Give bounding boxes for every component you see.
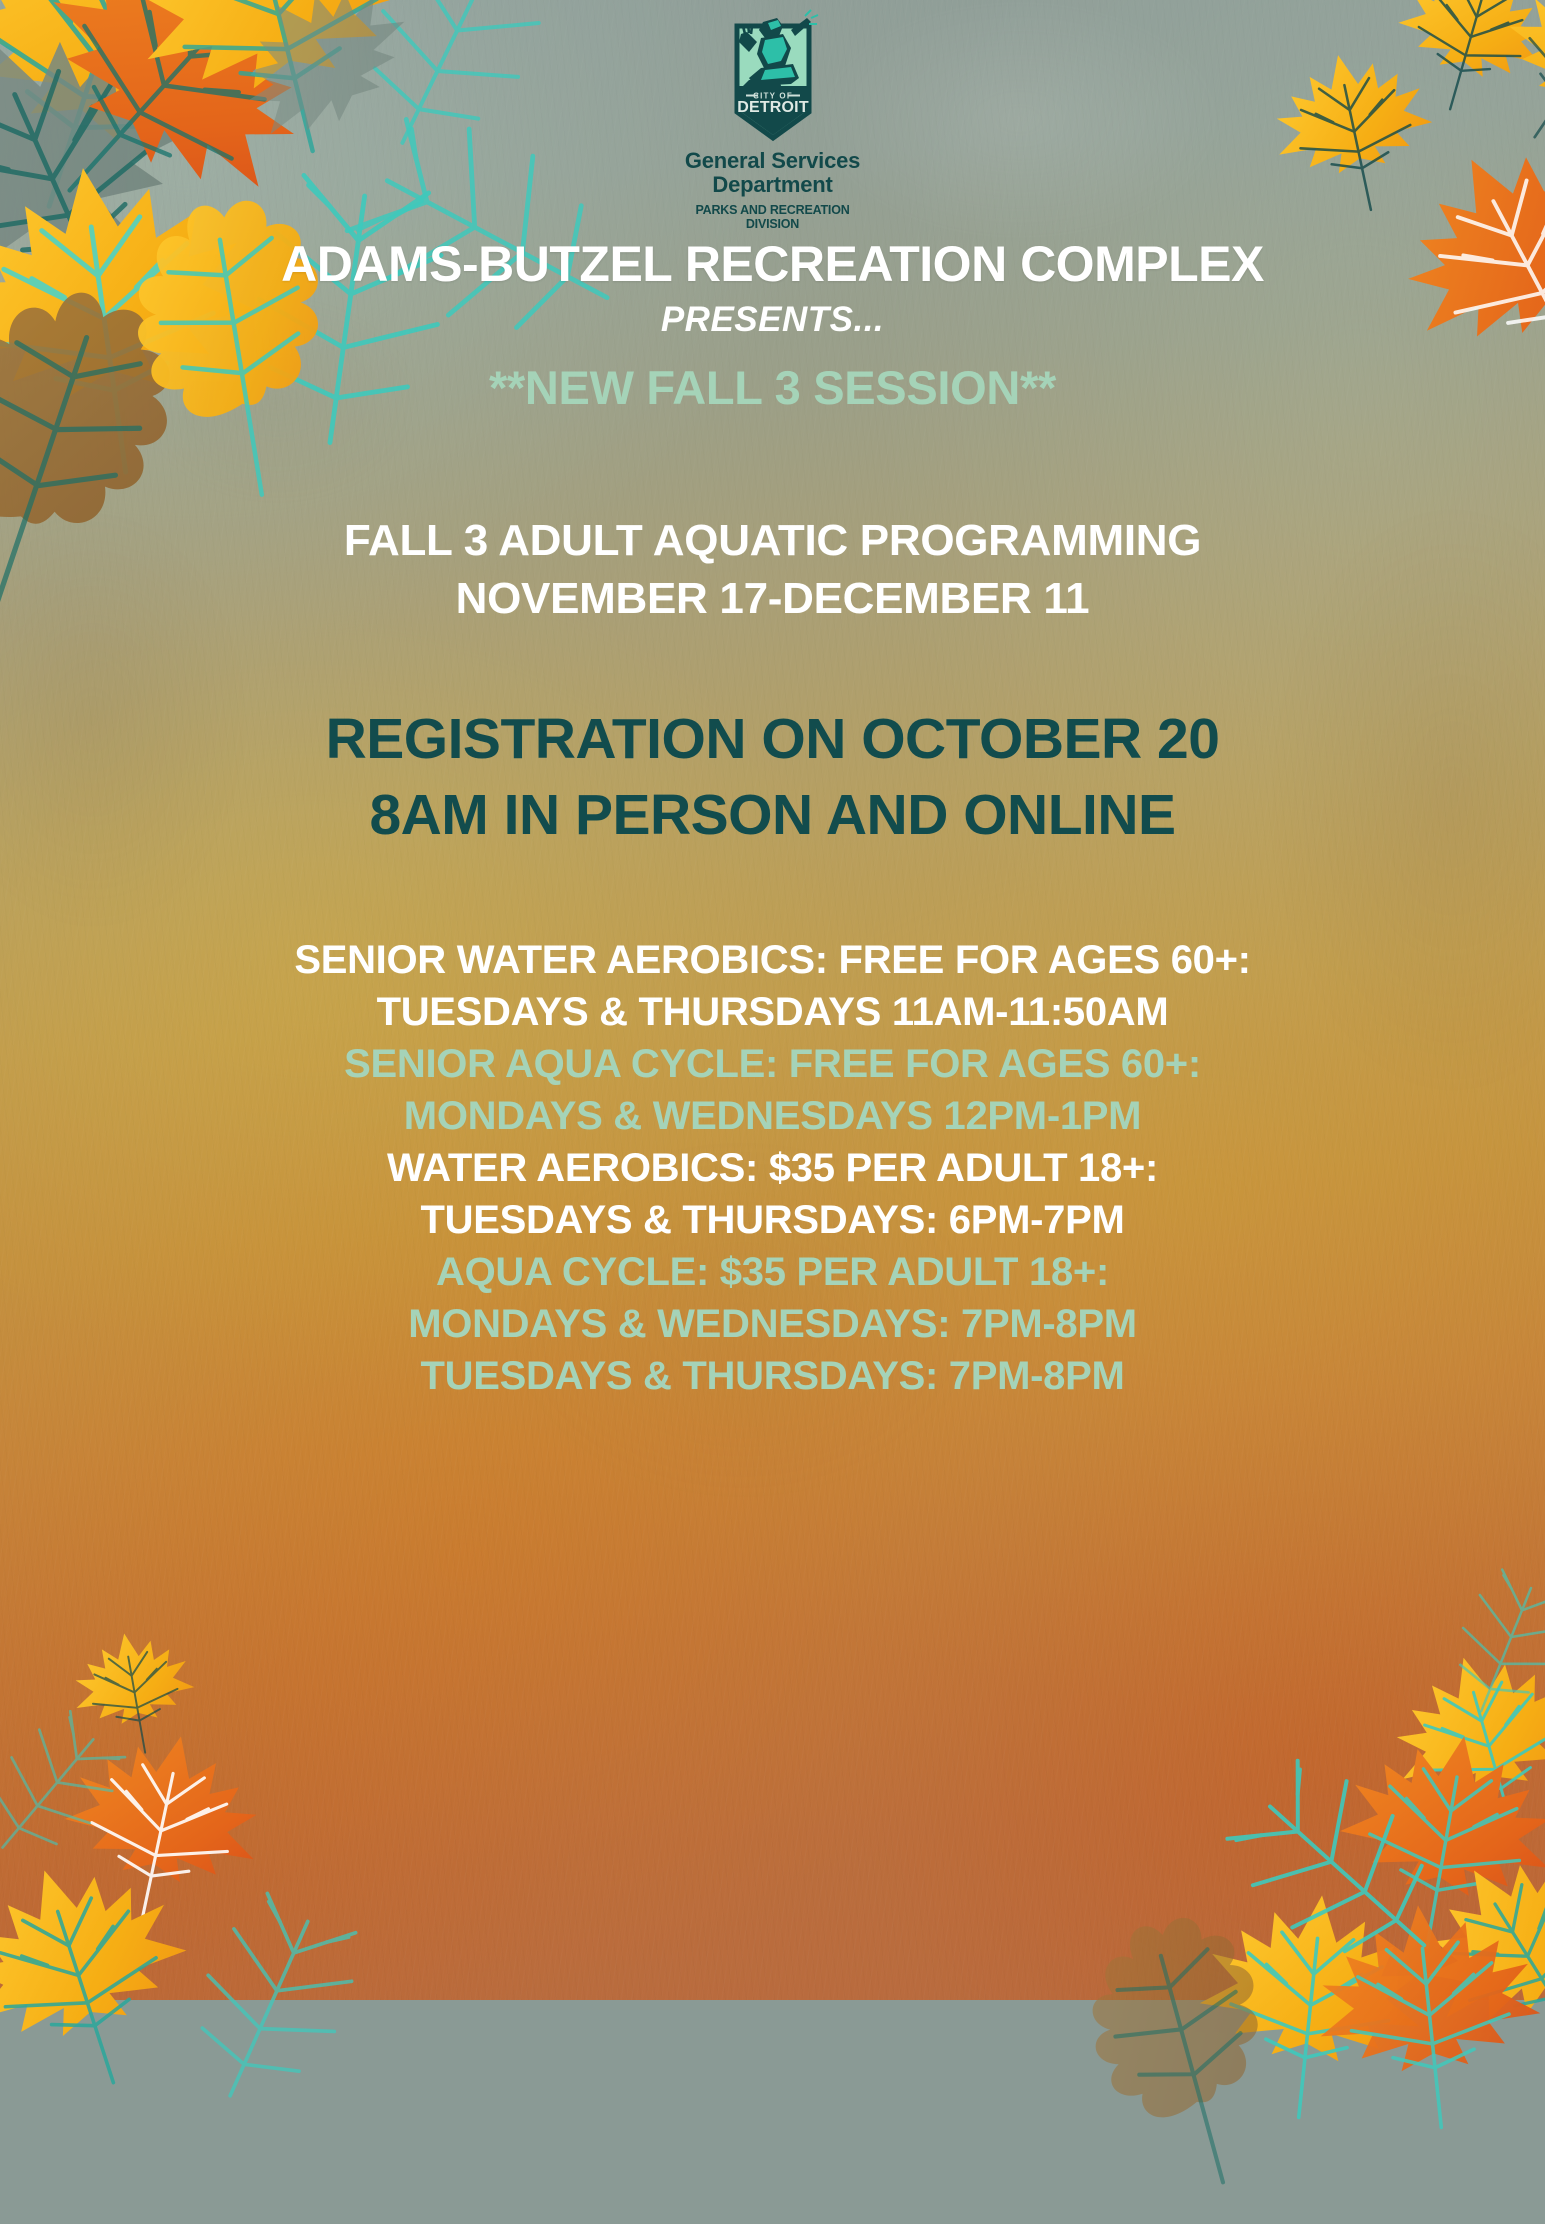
city-of-detroit-logo: CITY OF DETROIT General Services Departm… <box>0 8 1545 231</box>
program-line-2: NOVEMBER 17-DECEMBER 11 <box>0 570 1545 628</box>
class-schedule: MONDAYS & WEDNESDAYS: 7PM-8PM <box>0 1298 1545 1350</box>
class-title: AQUA CYCLE: $35 PER ADULT 18+: <box>0 1246 1545 1298</box>
detroit-shield-icon: CITY OF DETROIT <box>721 8 825 148</box>
class-title: WATER AEROBICS: $35 PER ADULT 18+: <box>0 1142 1545 1194</box>
program-line-1: FALL 3 ADULT AQUATIC PROGRAMMING <box>0 512 1545 570</box>
class-schedule: TUESDAYS & THURSDAYS: 6PM-7PM <box>0 1194 1545 1246</box>
registration-line-2: 8AM IN PERSON AND ONLINE <box>0 778 1545 854</box>
class-schedule: TUESDAYS & THURSDAYS: 7PM-8PM <box>0 1350 1545 1402</box>
logo-dept-line-1: General Services <box>685 150 860 172</box>
class-schedule: TUESDAYS & THURSDAYS 11AM-11:50AM <box>0 986 1545 1038</box>
class-listings: SENIOR WATER AEROBICS: FREE FOR AGES 60+… <box>0 934 1545 1402</box>
class-listing: AQUA CYCLE: $35 PER ADULT 18+:MONDAYS & … <box>0 1246 1545 1402</box>
logo-division-line-2: DIVISION <box>746 218 799 231</box>
logo-division-line-1: PARKS AND RECREATION <box>695 204 849 217</box>
class-listing: SENIOR WATER AEROBICS: FREE FOR AGES 60+… <box>0 934 1545 1038</box>
page-title: ADAMS-BUTZEL RECREATION COMPLEX <box>0 238 1545 291</box>
class-title: SENIOR AQUA CYCLE: FREE FOR AGES 60+: <box>0 1038 1545 1090</box>
logo-dept-line-2: Department <box>712 174 832 197</box>
registration-callout: REGISTRATION ON OCTOBER 20 8AM IN PERSON… <box>0 702 1545 854</box>
class-title: SENIOR WATER AEROBICS: FREE FOR AGES 60+… <box>0 934 1545 986</box>
program-heading: FALL 3 ADULT AQUATIC PROGRAMMING NOVEMBE… <box>0 512 1545 628</box>
session-banner: **NEW FALL 3 SESSION** <box>0 360 1545 415</box>
class-schedule: MONDAYS & WEDNESDAYS 12PM-1PM <box>0 1090 1545 1142</box>
svg-text:DETROIT: DETROIT <box>737 99 809 116</box>
presents-label: PRESENTS... <box>0 300 1545 340</box>
class-listing: SENIOR AQUA CYCLE: FREE FOR AGES 60+:MON… <box>0 1038 1545 1142</box>
class-listing: WATER AEROBICS: $35 PER ADULT 18+:TUESDA… <box>0 1142 1545 1246</box>
registration-line-1: REGISTRATION ON OCTOBER 20 <box>0 702 1545 778</box>
